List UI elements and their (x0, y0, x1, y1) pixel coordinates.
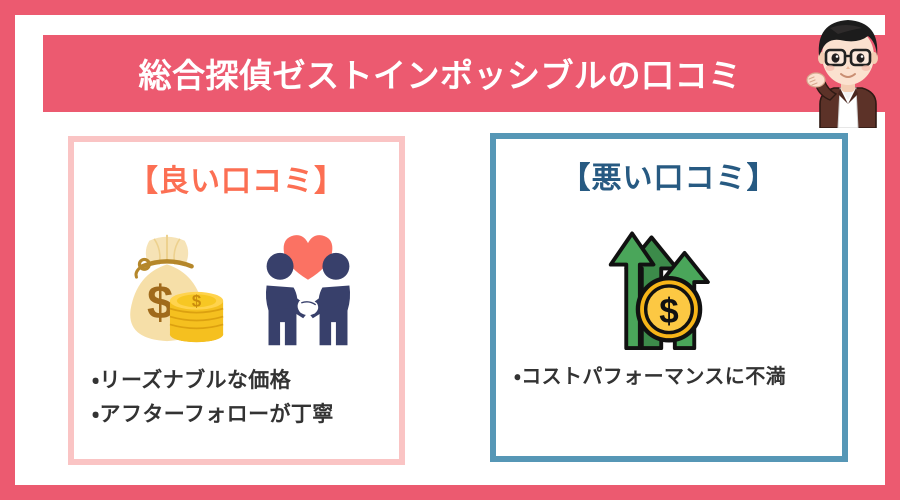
frame-border-bottom (0, 485, 900, 500)
svg-text:$: $ (659, 291, 678, 330)
good-reviews-list: ・リーズナブルな価格 ・アフターフォローが丁寧 (74, 364, 399, 432)
frame-border-left (0, 0, 15, 500)
rising-arrows-with-coin-icon: $ (601, 216, 737, 357)
bad-reviews-heading: 【悪い口コミ】 (496, 153, 842, 197)
svg-text:$: $ (191, 291, 201, 310)
page-title: 総合探偵ゼストインポッシブルの口コミ (60, 38, 820, 108)
bad-reviews-illustrations: $ (496, 211, 842, 361)
infographic-canvas: 総合探偵ゼストインポッシブルの口コミ (0, 0, 900, 500)
good-reviews-illustrations: $ $ (74, 214, 399, 364)
money-bag-with-coins-icon: $ $ (103, 223, 231, 356)
good-reviews-card: 【良い口コミ】 $ (68, 136, 405, 465)
man-avatar-presenting-icon (800, 8, 896, 128)
bad-reviews-card: 【悪い口コミ】 $ ・コストパフォーマンスに不満 (490, 133, 848, 462)
list-item: ・アフターフォローが丁寧 (92, 398, 381, 432)
list-item: ・コストパフォーマンスに不満 (514, 361, 824, 393)
handshake-with-heart-icon (245, 222, 371, 357)
svg-text:$: $ (146, 276, 172, 329)
frame-border-top (0, 0, 900, 15)
bad-reviews-list: ・コストパフォーマンスに不満 (496, 361, 842, 393)
good-reviews-heading: 【良い口コミ】 (74, 156, 399, 200)
list-item: ・リーズナブルな価格 (92, 364, 381, 398)
